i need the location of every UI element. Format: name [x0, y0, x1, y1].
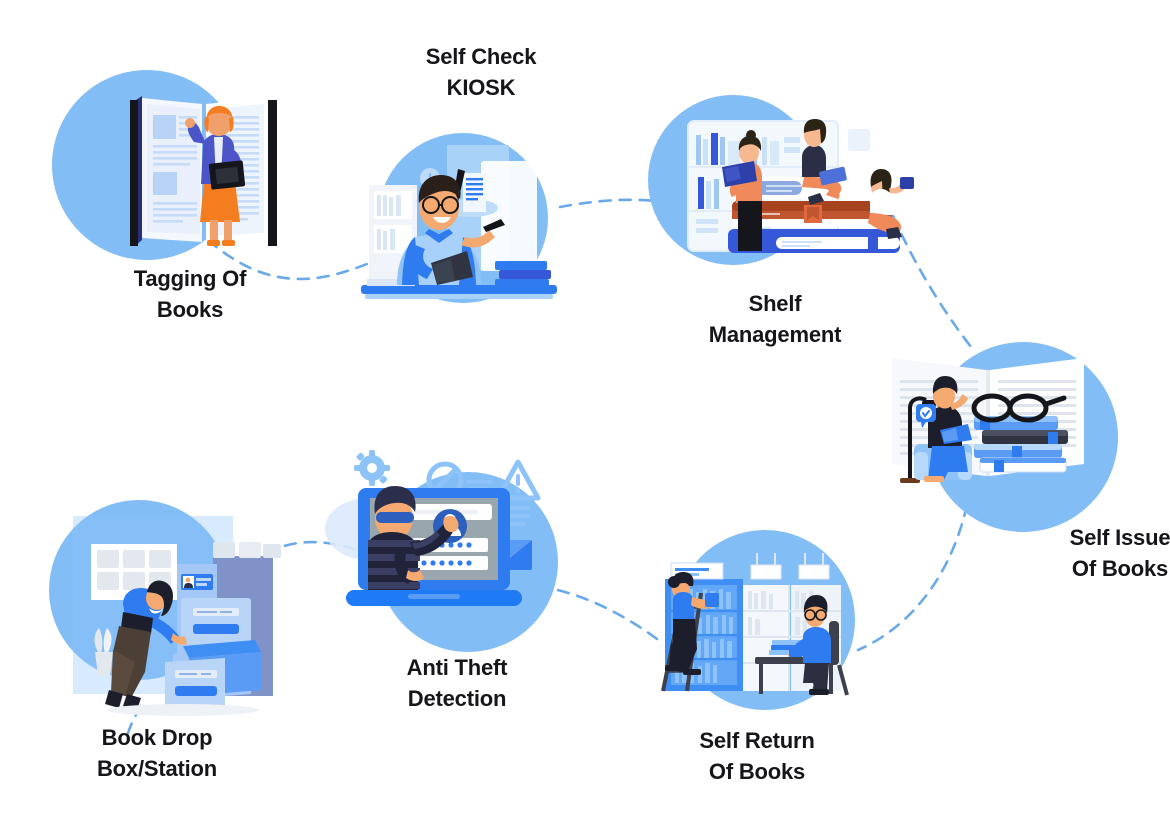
node-label-book-drop-box-station: Book Drop Box/Station — [27, 722, 287, 784]
anti-theft-laptop-hacker-icon — [336, 446, 561, 646]
self-issue-reading-man-icon — [888, 348, 1088, 508]
node-anti-theft-detection[interactable]: Anti Theft Detection — [330, 440, 590, 730]
node-label-tagging-of-books: Tagging Of Books — [60, 263, 320, 325]
node-label-anti-theft-detection: Anti Theft Detection — [327, 652, 587, 714]
kiosk-man-reading-icon — [355, 133, 565, 328]
node-self-return-of-books[interactable]: Self Return Of Books — [625, 525, 905, 805]
node-label-self-return-of-books: Self Return Of Books — [627, 725, 887, 787]
self-return-library-icon — [643, 553, 863, 708]
node-tagging-of-books[interactable]: Tagging Of Books — [40, 60, 340, 320]
book-drop-box-locker-icon — [65, 512, 300, 717]
node-label-shelf-management: Shelf Management — [645, 288, 905, 350]
node-self-check-kiosk[interactable]: Self Check KIOSK — [355, 35, 615, 335]
node-book-drop-box-station[interactable]: Book Drop Box/Station — [35, 490, 315, 800]
node-shelf-management[interactable]: Shelf Management — [640, 95, 930, 365]
shelf-management-books-icon — [684, 115, 924, 285]
node-self-issue-of-books[interactable]: Self Issue Of Books — [880, 330, 1170, 590]
node-label-self-check-kiosk: Self Check KIOSK — [351, 41, 611, 103]
open-book-with-woman-icon — [90, 82, 320, 272]
node-label-self-issue-of-books: Self Issue Of Books — [990, 522, 1170, 584]
infographic-canvas: Tagging Of Books Self Check KIOSK — [0, 0, 1170, 825]
